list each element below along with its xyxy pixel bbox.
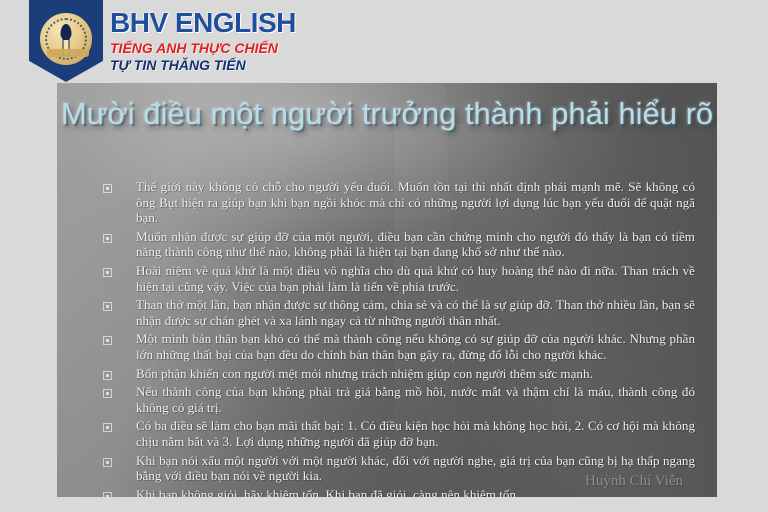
- square-bullet-icon: [103, 336, 112, 345]
- list-item: Nếu thành công của bạn không phải trả gi…: [95, 384, 695, 415]
- square-bullet-icon: [103, 389, 112, 398]
- list-item-text: Có ba điều sẽ làm cho bạn mãi thất bại: …: [136, 418, 695, 449]
- list-item: Muốn nhận được sự giúp đỡ của một người,…: [95, 229, 695, 260]
- list-item-text: Nếu thành công của bạn không phải trả gi…: [136, 384, 695, 415]
- brand-text-block: BHV ENGLISH TIẾNG ANH THỰC CHIẾN TỰ TIN …: [110, 8, 296, 74]
- square-bullet-icon: [103, 268, 112, 277]
- list-item-text: Hoài niệm về quá khứ là một điều vô nghĩ…: [136, 263, 695, 294]
- list-item: Thế giới này không có chỗ cho người yếu …: [95, 179, 695, 226]
- torch-flame-icon: [61, 24, 72, 40]
- bhv-logo-shield: [29, 0, 103, 82]
- square-bullet-icon: [103, 458, 112, 467]
- list-item-text: Khi bạn không giỏi, hãy khiêm tốn. Khi b…: [136, 487, 695, 497]
- square-bullet-icon: [103, 234, 112, 243]
- list-item-text: Khi bạn nói xấu một người với một người …: [136, 453, 695, 484]
- square-bullet-icon: [103, 492, 112, 497]
- list-item-text: Một mình bản thân bạn khó có thể mà thàn…: [136, 331, 695, 362]
- square-bullet-icon: [103, 371, 112, 380]
- list-item: Hoài niệm về quá khứ là một điều vô nghĩ…: [95, 263, 695, 294]
- slide-canvas: Mười điều một người trưởng thành phải hi…: [57, 83, 717, 497]
- presentation-slide-view: BHV ENGLISH TIẾNG ANH THỰC CHIẾN TỰ TIN …: [0, 0, 768, 512]
- list-item: Bổn phận khiến con người mệt mỏi nhưng t…: [95, 366, 695, 382]
- emblem-ribbon-icon: [47, 49, 89, 57]
- list-item: Khi bạn không giỏi, hãy khiêm tốn. Khi b…: [95, 487, 695, 497]
- list-item: Khi bạn nói xấu một người với một người …: [95, 453, 695, 484]
- brand-name: BHV ENGLISH: [110, 8, 296, 38]
- square-bullet-icon: [103, 423, 112, 432]
- list-item: Một mình bản thân bạn khó có thể mà thàn…: [95, 331, 695, 362]
- torch-emblem-icon: [38, 11, 94, 67]
- brand-tagline-secondary: TỰ TIN THĂNG TIẾN: [110, 57, 296, 74]
- bullet-list: Thế giới này không có chỗ cho người yếu …: [95, 179, 695, 497]
- slide-title: Mười điều một người trưởng thành phải hi…: [57, 95, 717, 132]
- list-item-text: Thế giới này không có chỗ cho người yếu …: [136, 179, 695, 226]
- list-item-text: Muốn nhận được sự giúp đỡ của một người,…: [136, 229, 695, 260]
- square-bullet-icon: [103, 184, 112, 193]
- square-bullet-icon: [103, 302, 112, 311]
- brand-tagline-primary: TIẾNG ANH THỰC CHIẾN: [110, 40, 296, 57]
- list-item-text: Than thở một lần, bạn nhận được sự thông…: [136, 297, 695, 328]
- list-item-text: Bổn phận khiến con người mệt mỏi nhưng t…: [136, 366, 695, 382]
- list-item: Có ba điều sẽ làm cho bạn mãi thất bại: …: [95, 418, 695, 449]
- list-item: Than thở một lần, bạn nhận được sự thông…: [95, 297, 695, 328]
- brand-header: BHV ENGLISH TIẾNG ANH THỰC CHIẾN TỰ TIN …: [0, 0, 768, 83]
